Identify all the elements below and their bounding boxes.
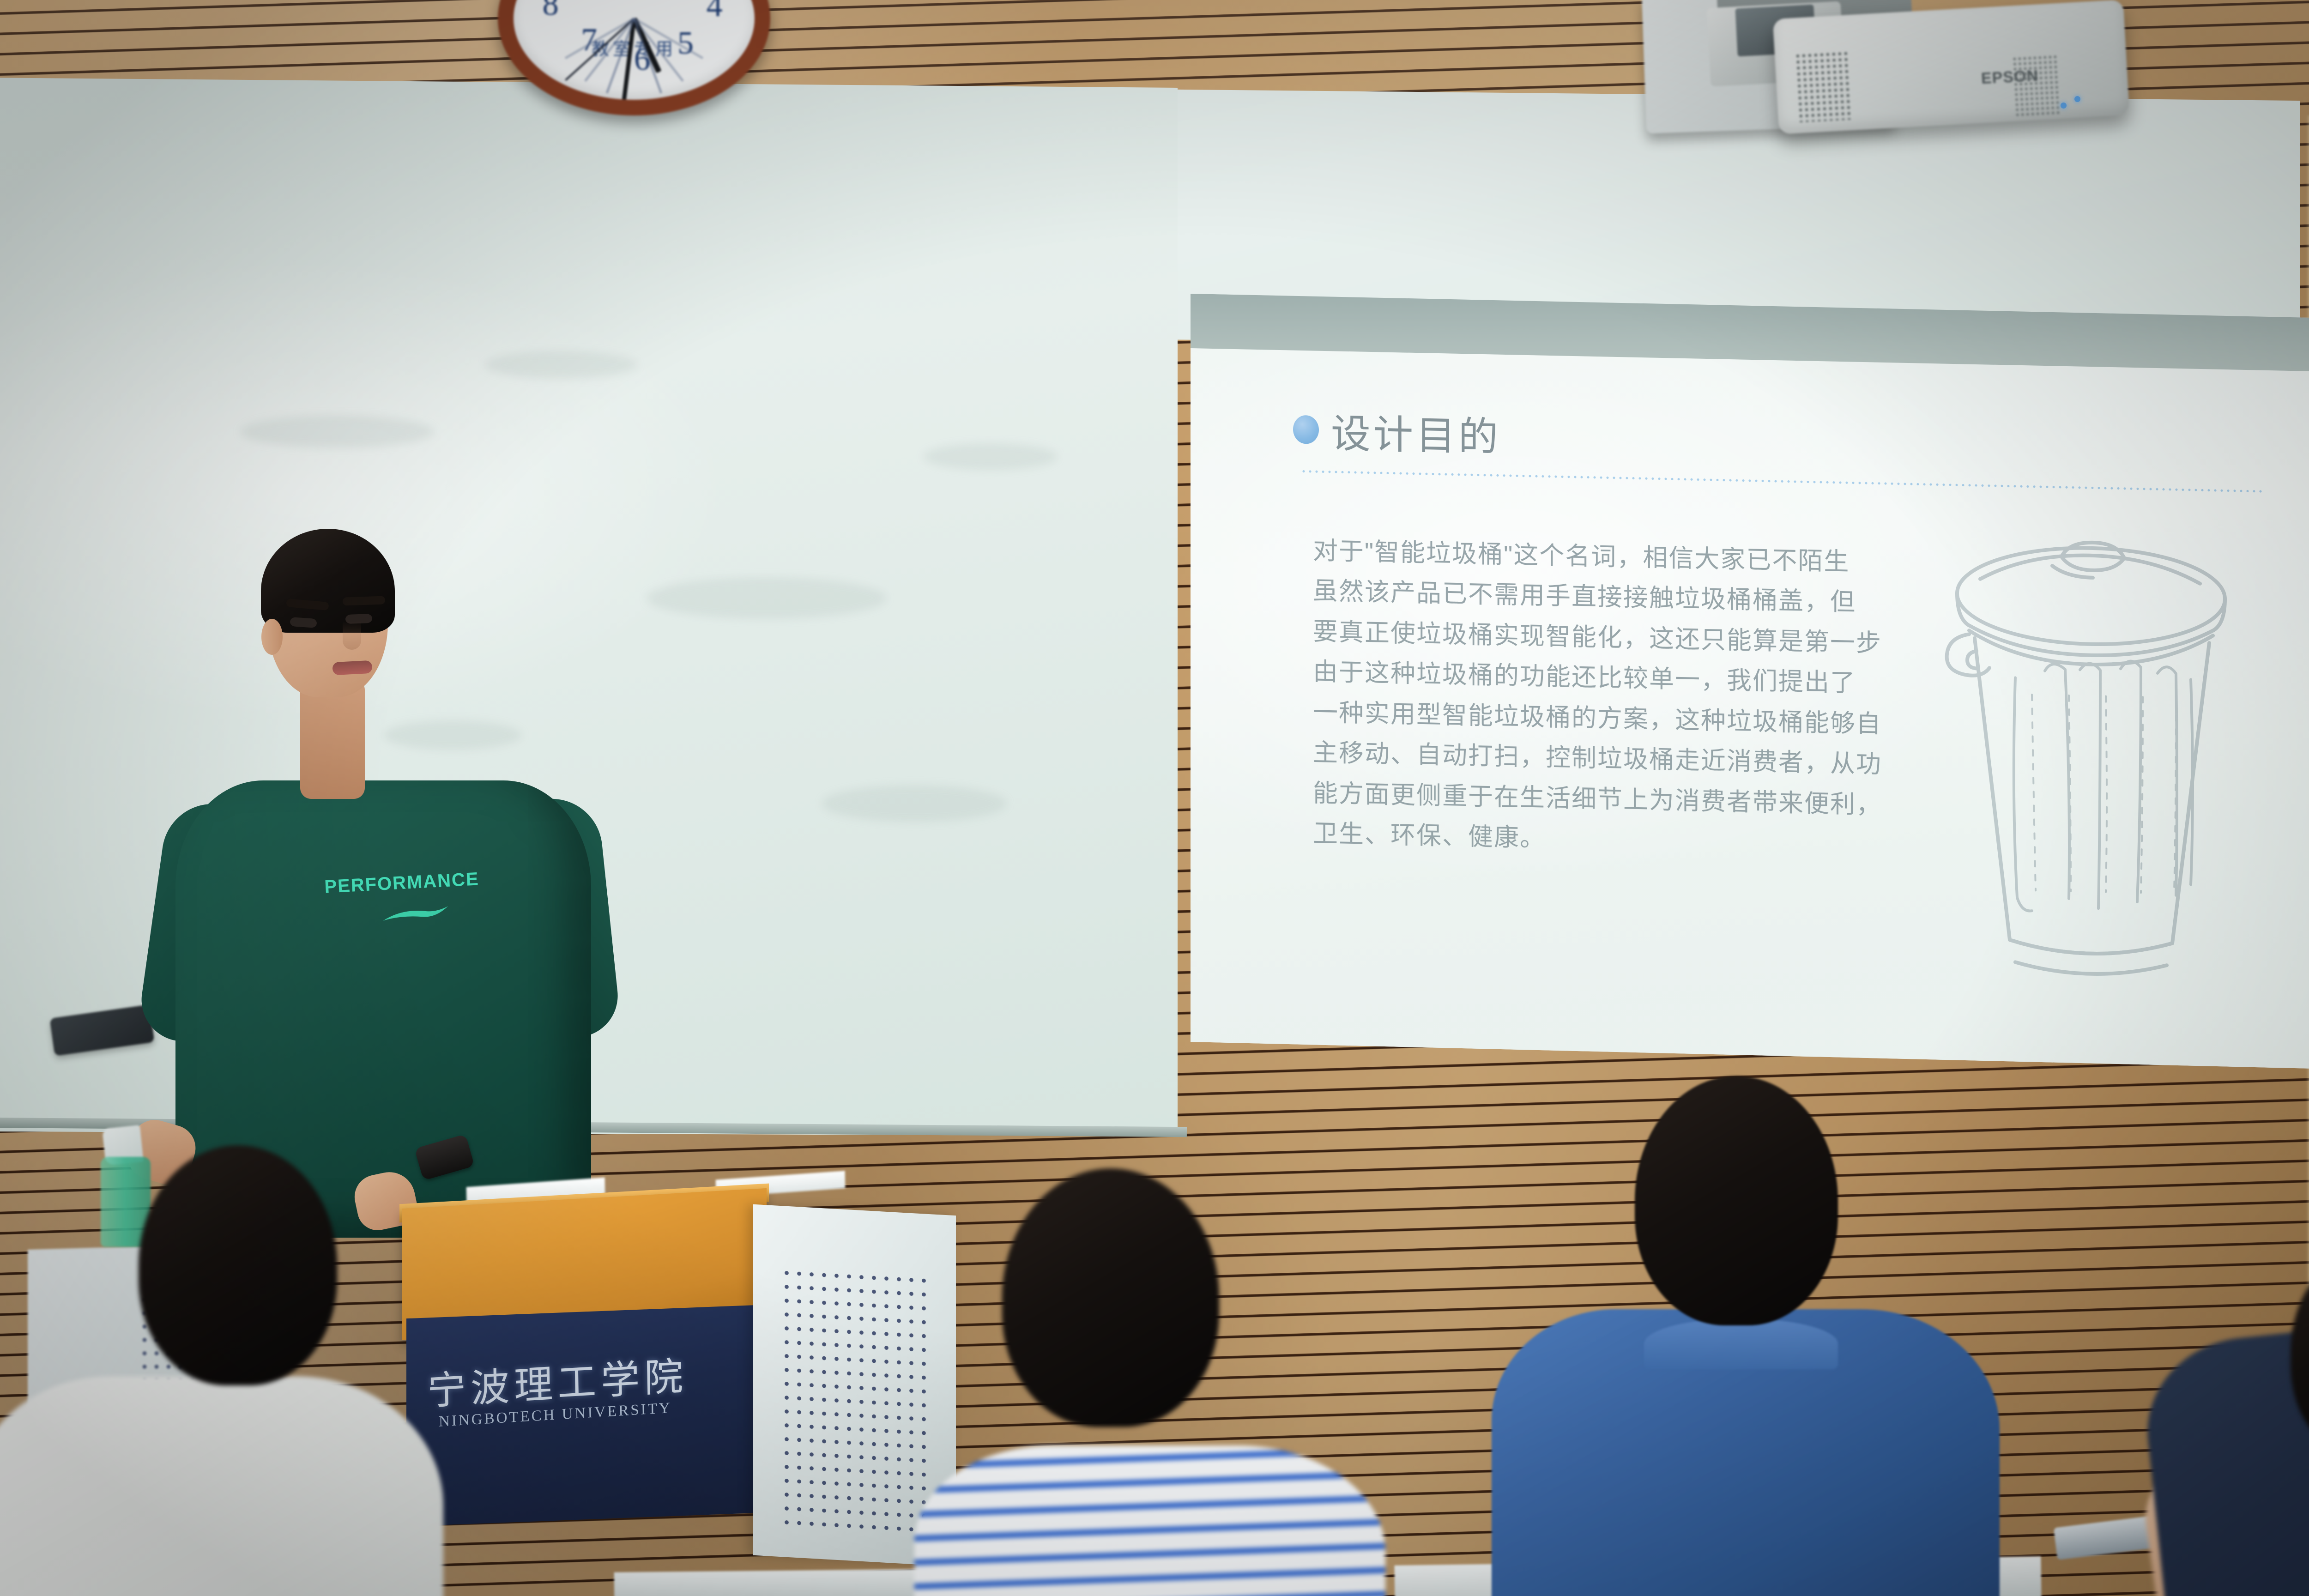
classroom-scene: 设计目的 对于"智能垃圾桶"这个名词，相信大家已不陌生 虽然该产品已不需用手直接…	[0, 0, 2309, 1596]
projector-vent	[1795, 50, 1854, 122]
slide-title: 设计目的	[1331, 401, 1501, 462]
audience-head	[1635, 1076, 1838, 1325]
presenter-eyebrow	[343, 596, 386, 605]
anta-swoosh-icon	[381, 903, 451, 925]
board-smudge	[240, 416, 434, 448]
console-speaker-grille	[780, 1266, 933, 1533]
presenter-ear	[261, 619, 283, 655]
shirt-collar	[1644, 1318, 1838, 1369]
slide-body-text: 对于"智能垃圾桶"这个名词，相信大家已不陌生 虽然该产品已不需用手直接接触垃圾桶…	[1313, 531, 1858, 865]
trash-can-icon	[1943, 516, 2239, 993]
bullet-dot-icon	[1293, 415, 1319, 444]
board-smudge	[647, 577, 887, 619]
audience-head	[1002, 1168, 1219, 1427]
board-smudge	[383, 720, 522, 750]
presenter-mouth	[332, 660, 372, 675]
projector-brand-label: EPSON	[1981, 67, 2039, 88]
board-smudge	[822, 785, 1007, 822]
clock-numeral-4: 4	[707, 0, 723, 24]
clock-numeral-8: 8	[543, 0, 559, 23]
projected-slide: 设计目的 对于"智能垃圾桶"这个名词，相信大家已不陌生 虽然该产品已不需用手直接…	[1191, 294, 2309, 1069]
slide-title-divider	[1300, 470, 2266, 493]
projector-status-led	[2061, 103, 2067, 109]
presenter-eye	[290, 617, 317, 628]
board-smudge	[485, 351, 637, 379]
white-shirt	[0, 1376, 443, 1596]
presenter-nose	[343, 621, 361, 650]
slide-title-row: 设计目的	[1293, 400, 1501, 462]
board-smudge	[924, 443, 1058, 470]
striped-shirt	[914, 1445, 1385, 1596]
clock-face: 8 7 6 5 4 教室专用	[514, 0, 755, 100]
audience-head	[139, 1145, 337, 1385]
projector-power-led	[2074, 96, 2080, 102]
wall-clock: 8 7 6 5 4 教室专用	[498, 0, 770, 115]
